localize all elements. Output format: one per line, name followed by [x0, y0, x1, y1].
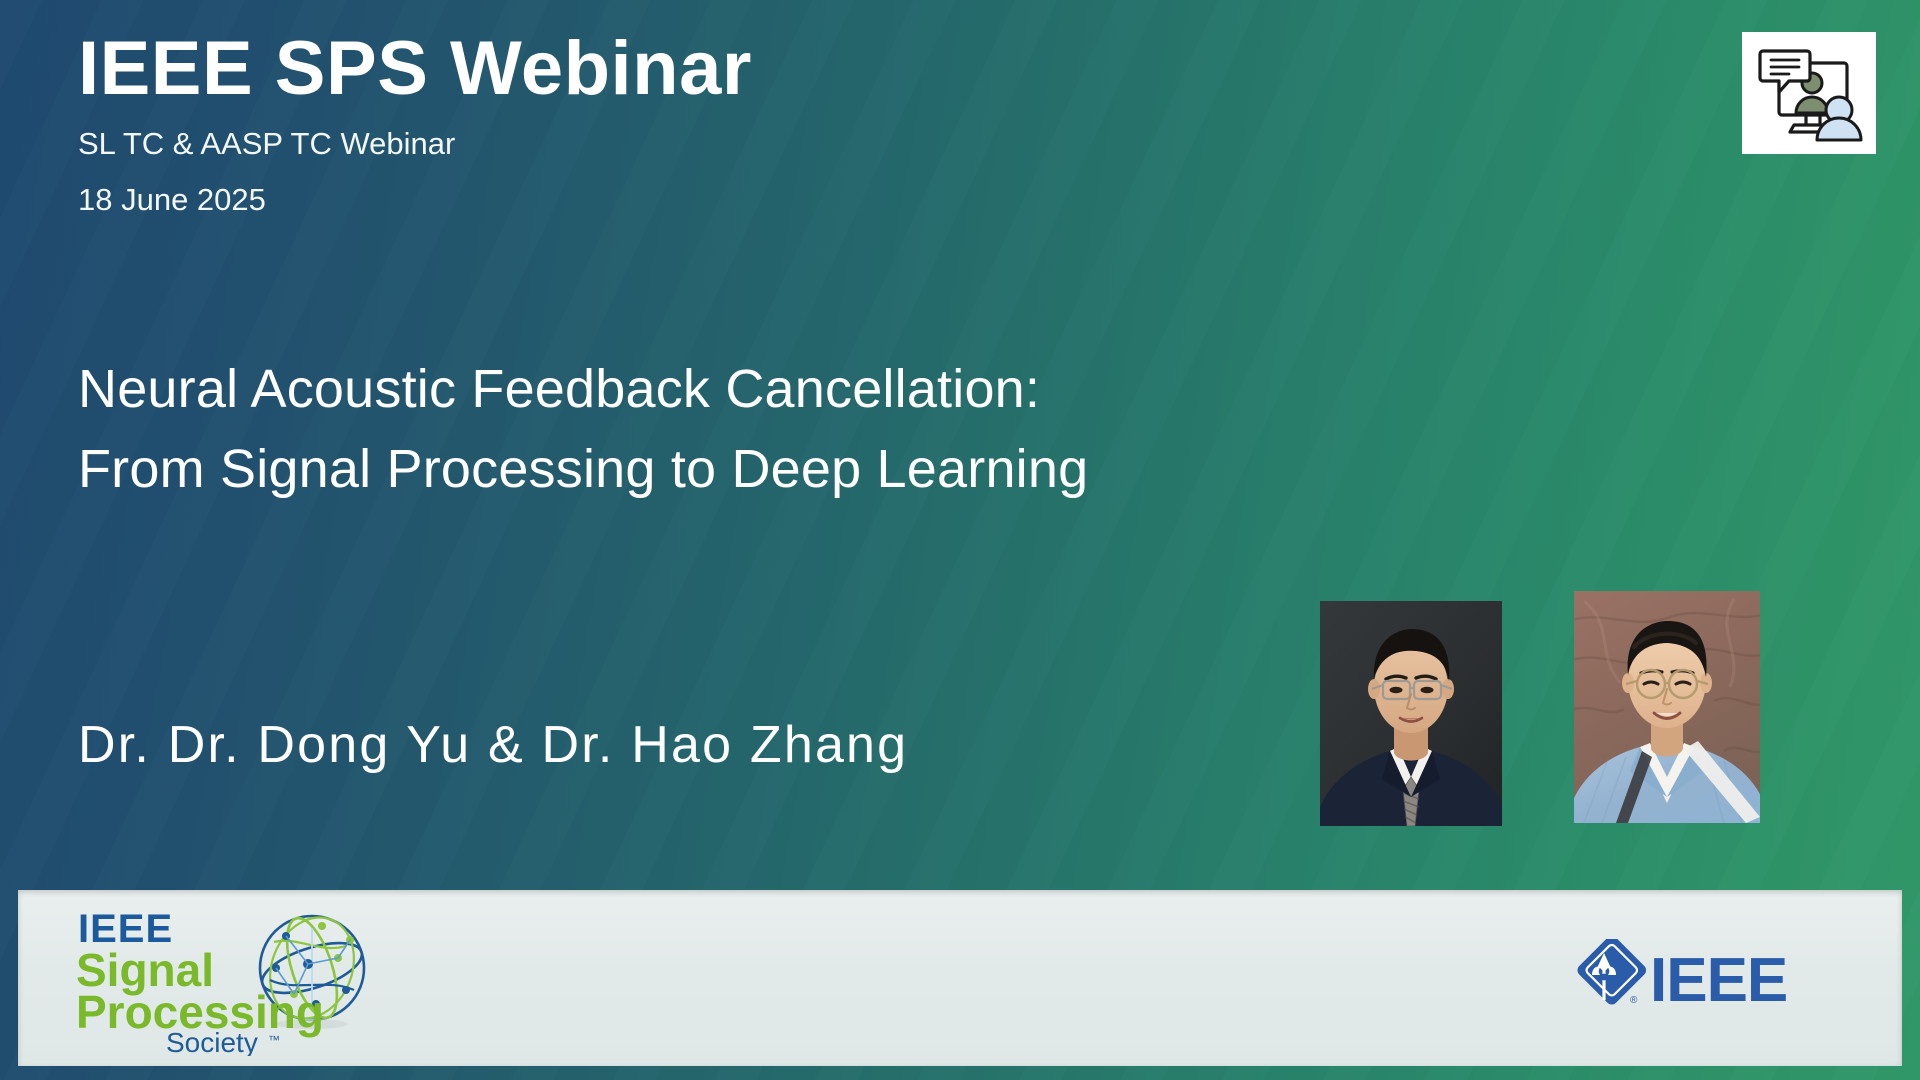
speaker-photo-hao-zhang [1574, 591, 1760, 823]
webinar-icon-card [1742, 32, 1876, 154]
ieee-diamond-icon: ® [1575, 939, 1649, 1007]
page-title: IEEE SPS Webinar [78, 26, 752, 113]
talk-title-line-2: From Signal Processing to Deep Learning [78, 430, 1088, 510]
sps-logo-society: Society [166, 1027, 258, 1056]
speakers-names: Dr. Dr. Dong Yu & Dr. Hao Zhang [78, 715, 908, 775]
ieee-sps-logo: IEEE Signal Processing Society ™ [72, 900, 384, 1056]
speaker-photo-dong-yu [1320, 601, 1502, 826]
webinar-title-slide: IEEE SPS Webinar SL TC & AASP TC Webinar… [0, 0, 1920, 1080]
sps-logo-trademark: ™ [268, 1033, 280, 1047]
ieee-master-logo: ® IEEE [1564, 939, 1816, 1017]
footer-logo-bar: IEEE Signal Processing Society ™ [18, 890, 1902, 1066]
ieee-registered-mark: ® [1630, 995, 1638, 1006]
webinar-date: 18 June 2025 [78, 181, 752, 220]
talk-title: Neural Acoustic Feedback Cancellation: F… [78, 350, 1088, 510]
header-block: IEEE SPS Webinar SL TC & AASP TC Webinar… [78, 26, 752, 220]
talk-title-line-1: Neural Acoustic Feedback Cancellation: [78, 350, 1088, 430]
webinar-subtitle: SL TC & AASP TC Webinar [78, 125, 752, 164]
webinar-presentation-icon [1753, 39, 1865, 148]
ieee-wordmark: IEEE [1650, 946, 1787, 1015]
